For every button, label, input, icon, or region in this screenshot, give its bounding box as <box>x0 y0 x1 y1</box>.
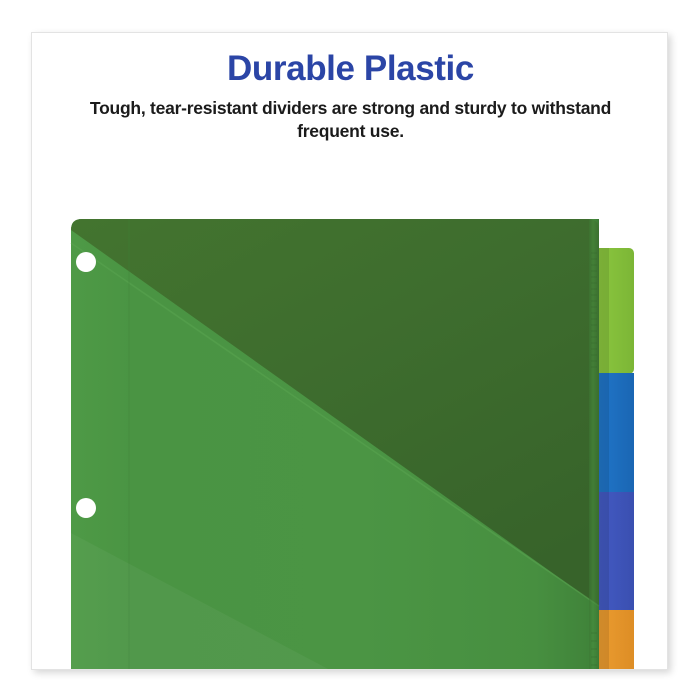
page-title: Durable Plastic <box>32 49 668 89</box>
ribbed-binding-strip <box>589 219 599 670</box>
product-card: Durable Plastic Tough, tear-resistant di… <box>31 32 668 670</box>
punch-hole-bottom <box>76 498 96 518</box>
header-text-block: Durable Plastic Tough, tear-resistant di… <box>32 49 668 143</box>
punch-hole-top <box>76 252 96 272</box>
screenshot-canvas: Durable Plastic Tough, tear-resistant di… <box>0 0 700 700</box>
page-subtitle: Tough, tear-resistant dividers are stron… <box>71 97 631 143</box>
